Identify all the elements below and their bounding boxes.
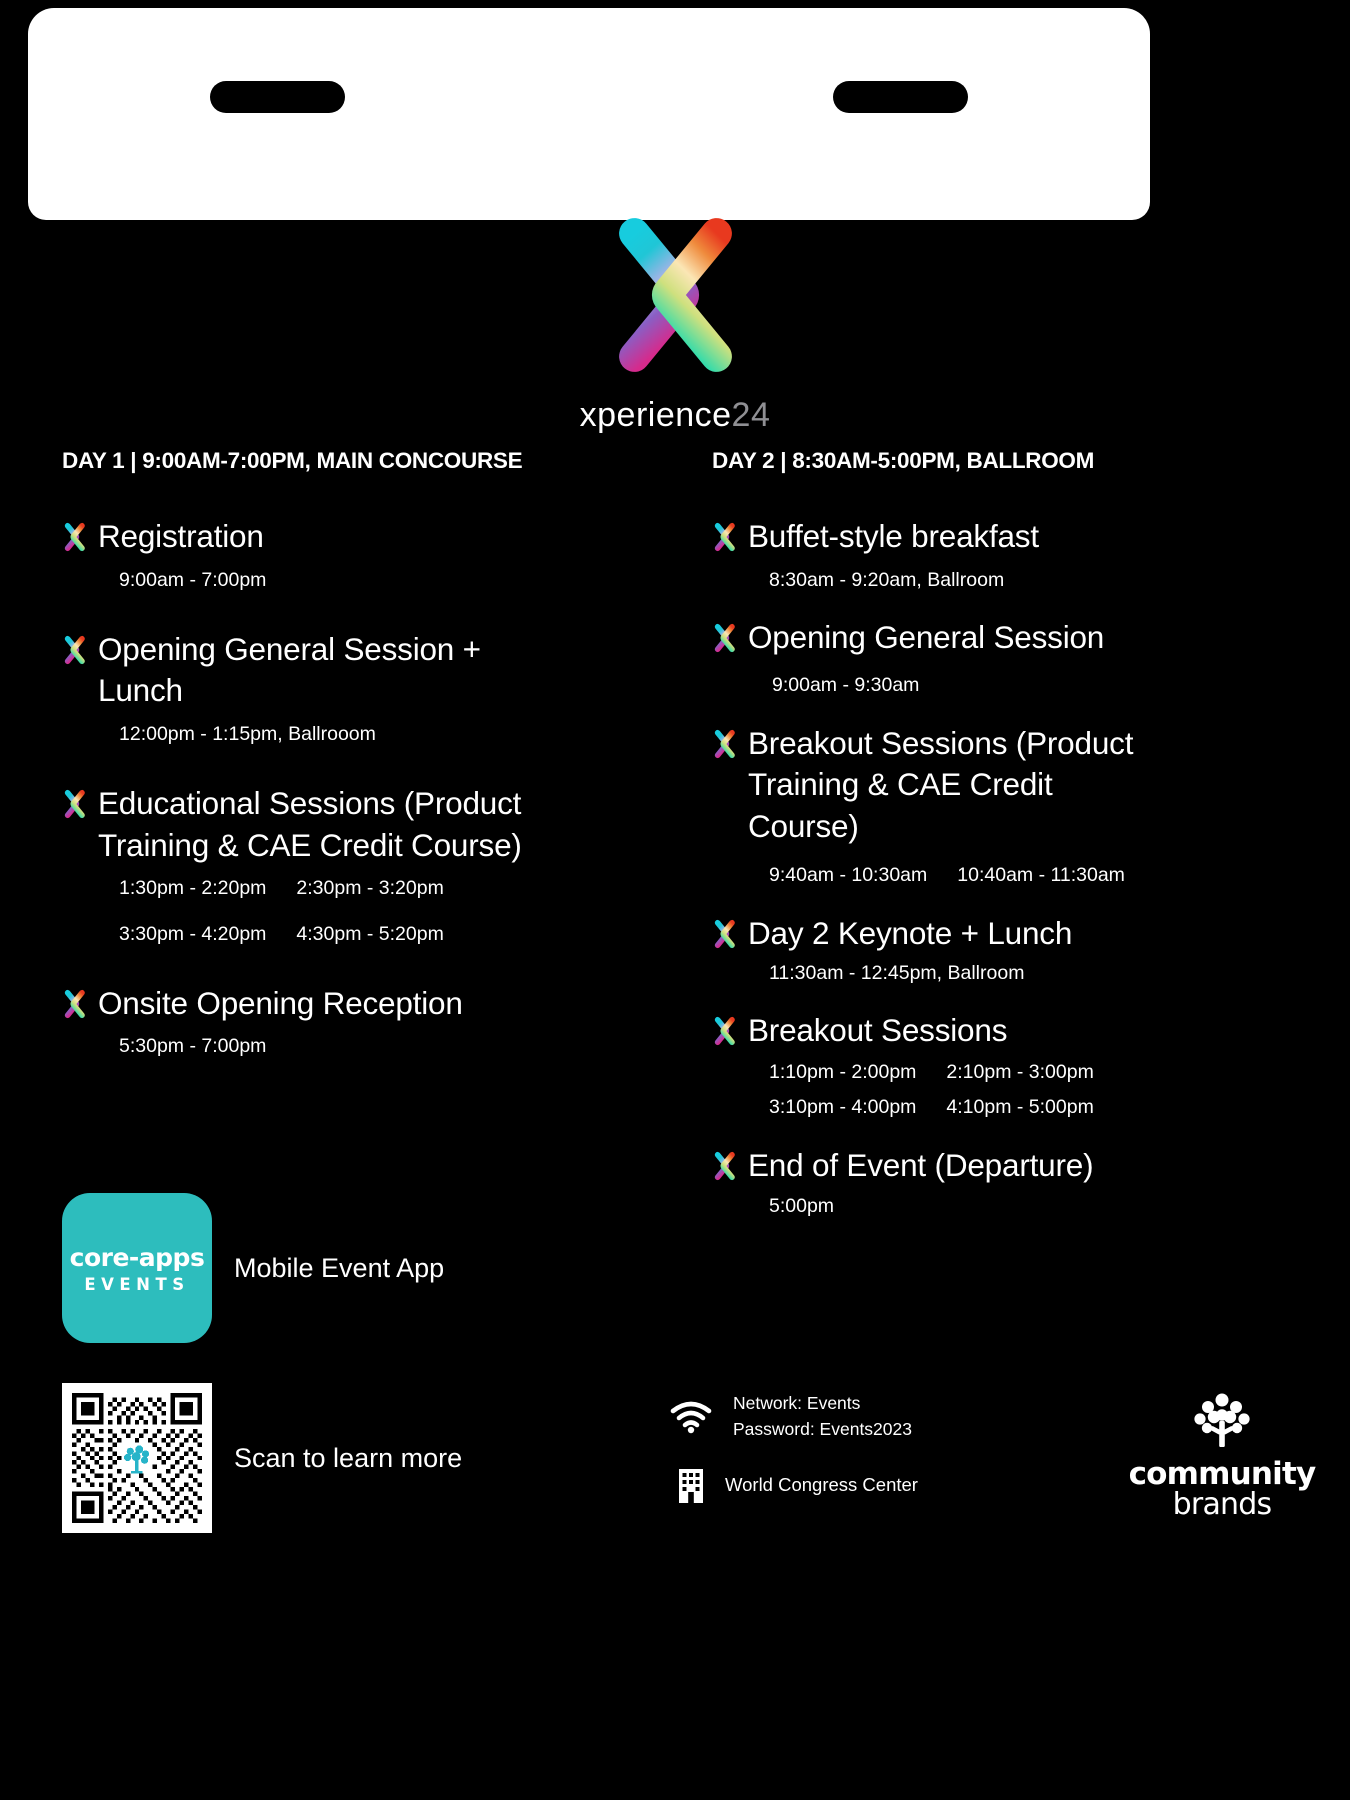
day1-item-educational-sessions: Educational Sessions (Product Training &… [62,783,700,949]
wordmark-main: xperience [580,396,732,434]
lanyard-header [28,8,1150,220]
day2-item-title: Breakout Sessions (Product Training & CA… [748,723,1148,848]
day1-item-title: Registration [98,516,264,558]
time-slot: 3:10pm - 4:00pm [769,1096,916,1118]
mini-x-icon [712,1016,737,1046]
core-apps-wordmark: core-apps [70,1243,205,1272]
time-slot: 10:40am - 11:30am [957,864,1125,886]
mini-x-icon [712,729,737,759]
schedule-columns: DAY 1 | 9:00AM-7:00PM, MAIN CONCOURSE Re… [0,448,1350,1243]
time-row: 3:30pm - 4:20pm4:30pm - 5:20pm [119,920,700,949]
day2-item-title: Day 2 Keynote + Lunch [748,913,1072,955]
day1-item-opening-general-session: Opening General Session + Lunch 12:00pm … [62,629,700,749]
time-slot: 12:00pm - 1:15pm, Ballrooom [119,723,376,745]
building-icon [675,1465,707,1505]
day2-item-buffet-breakfast: Buffet-style breakfast 8:30am - 9:20am, … [712,516,1350,595]
time-slot: 5:00pm [769,1195,834,1217]
day2-item-title: Breakout Sessions [748,1010,1007,1052]
venue-name: World Congress Center [725,1471,918,1499]
mobile-app-block[interactable]: core-apps EVENTS Mobile Event App [62,1193,444,1343]
time-slot: 2:10pm - 3:00pm [946,1061,1093,1083]
day2-item-title: Opening General Session [748,617,1104,659]
time-slot: 4:30pm - 5:20pm [296,923,443,945]
day2-item-title: Buffet-style breakfast [748,516,1039,558]
sponsor-wordmark: community brands [1122,1459,1322,1520]
time-slot: 4:10pm - 5:00pm [946,1096,1093,1118]
time-slot: 5:30pm - 7:00pm [119,1035,266,1057]
time-row: 1:10pm - 2:00pm2:10pm - 3:00pm [769,1058,1350,1087]
time-slot: 1:30pm - 2:20pm [119,877,266,899]
mini-x-icon [62,989,87,1019]
time-slot: 8:30am - 9:20am, Ballroom [769,569,1004,591]
time-row: 1:30pm - 2:20pm2:30pm - 3:20pm [119,874,700,903]
brand-logo-block: xperience24 [0,215,1350,435]
day1-item-title: Onsite Opening Reception [98,983,463,1025]
day2-item-times: 9:40am - 10:30am10:40am - 11:30am [769,861,1350,890]
day1-item-onsite-opening-reception: Onsite Opening Reception 5:30pm - 7:00pm [62,983,700,1062]
conference-badge: xperience24 DAY 1 | 9:00AM-7:00PM, MAIN … [0,0,1350,1800]
day1-item-times: 5:30pm - 7:00pm [119,1032,700,1061]
day1-item-times: 12:00pm - 1:15pm, Ballrooom [119,720,700,749]
time-slot: 9:40am - 10:30am [769,864,927,886]
wifi-icon [667,1396,715,1436]
day2-item-title: End of Event (Departure) [748,1145,1093,1187]
time-slot: 3:30pm - 4:20pm [119,923,266,945]
mobile-app-label: Mobile Event App [234,1253,444,1284]
mini-x-icon [62,635,87,665]
mini-x-icon [712,522,737,552]
day2-item-end-of-event: End of Event (Departure) 5:00pm [712,1145,1350,1222]
wordmark-year: 24 [732,396,771,434]
day2-item-times: 11:30am - 12:45pm, Ballroom [769,959,1350,988]
day1-header: DAY 1 | 9:00AM-7:00PM, MAIN CONCOURSE [62,448,700,474]
sponsor-line2: brands [1122,1490,1322,1520]
time-row: 3:10pm - 4:00pm4:10pm - 5:00pm [769,1093,1350,1122]
mini-x-icon [712,1151,737,1181]
day2-item-times: 8:30am - 9:20am, Ballroom [769,566,1350,595]
qr-code-svg [72,1393,202,1523]
community-brands-tree-icon [1185,1388,1259,1454]
day2-item-opening-general-session: Opening General Session 9:00am - 9:30am [712,617,1350,701]
day1-item-times: 9:00am - 7:00pm [119,566,700,595]
day2-item-times: 1:10pm - 2:00pm2:10pm - 3:00pm 3:10pm - … [769,1058,1350,1123]
day1-item-title: Opening General Session + Lunch [98,629,568,712]
day2-item-times: 5:00pm [769,1192,1350,1221]
time-slot: 9:00am - 7:00pm [119,569,266,591]
time-slot: 2:30pm - 3:20pm [296,877,443,899]
qr-label: Scan to learn more [234,1443,462,1474]
qr-code-icon[interactable] [62,1383,212,1533]
wifi-network: Network: Events [733,1390,912,1416]
time-slot: 11:30am - 12:45pm, Ballroom [769,962,1024,984]
mini-x-icon [712,919,737,949]
core-apps-events-icon: core-apps EVENTS [62,1193,212,1343]
day1-column: DAY 1 | 9:00AM-7:00PM, MAIN CONCOURSE Re… [0,448,700,1243]
day2-item-breakout-sessions-am: Breakout Sessions (Product Training & CA… [712,723,1350,891]
day2-item-breakout-sessions-pm: Breakout Sessions 1:10pm - 2:00pm2:10pm … [712,1010,1350,1122]
day1-item-title: Educational Sessions (Product Training &… [98,783,528,866]
wifi-text-block: Network: Events Password: Events2023 [733,1390,912,1443]
day2-item-keynote-lunch: Day 2 Keynote + Lunch 11:30am - 12:45pm,… [712,913,1350,989]
events-wordmark: EVENTS [84,1275,189,1294]
wifi-password: Password: Events2023 [733,1416,912,1442]
xperience-x-logo-icon [593,215,758,375]
mini-x-icon [62,789,87,819]
day2-column: DAY 2 | 8:30AM-5:00PM, BALLROOM Buffet-s… [700,448,1350,1243]
community-brands-logo: community brands [1122,1388,1322,1520]
day2-header: DAY 2 | 8:30AM-5:00PM, BALLROOM [712,448,1350,474]
lanyard-slot-left [210,81,345,113]
mini-x-icon [62,522,87,552]
lanyard-slot-right [833,81,968,113]
time-slot: 9:00am - 9:30am [772,674,919,696]
day1-item-registration: Registration 9:00am - 7:00pm [62,516,700,595]
brand-wordmark: xperience24 [0,396,1350,435]
mini-x-icon [712,623,737,653]
day1-item-times: 1:30pm - 2:20pm2:30pm - 3:20pm 3:30pm - … [119,874,700,949]
day2-item-times: 9:00am - 9:30am [772,671,1350,700]
qr-block[interactable]: Scan to learn more [62,1383,462,1533]
time-slot: 1:10pm - 2:00pm [769,1061,916,1083]
